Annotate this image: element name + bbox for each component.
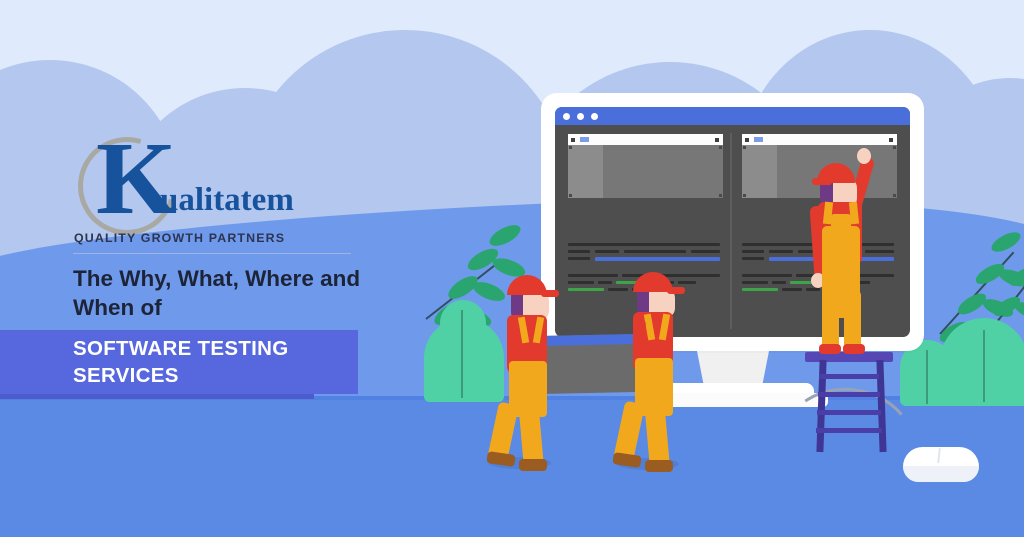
window-dot-maximize-icon[interactable] <box>591 113 598 120</box>
window-dot-minimize-icon[interactable] <box>577 113 584 120</box>
worker-carrying-front <box>613 262 703 477</box>
image-placeholder-shade <box>568 145 603 198</box>
cap-brim <box>812 178 832 185</box>
title-banner-text: SOFTWARE TESTING SERVICES <box>73 336 373 389</box>
cap-brim <box>541 290 559 297</box>
bush-left <box>440 300 486 402</box>
shoe <box>645 460 673 472</box>
headline-line-2: When of <box>73 293 373 322</box>
shoe <box>819 344 841 354</box>
worker-on-ladder <box>800 140 920 360</box>
toolbar-menu-icon <box>754 137 763 142</box>
image-placeholder-shade <box>742 145 777 198</box>
panel-toolbar[interactable] <box>568 134 723 145</box>
toolbar-marker-icon <box>745 138 749 142</box>
overall-bib <box>831 214 851 238</box>
toolbar-marker-icon <box>571 138 575 142</box>
divider <box>73 253 351 254</box>
cap-brim <box>667 287 685 294</box>
shoe <box>843 344 865 354</box>
banner-stage: K ualitatem QUALITY GROWTH PARTNERS The … <box>0 0 1024 537</box>
logo-wordmark: ualitatem <box>160 184 294 217</box>
worker-carrying-back <box>485 265 575 475</box>
window-dot-close-icon[interactable] <box>563 113 570 120</box>
browser-titlebar <box>555 107 910 125</box>
toolbar-menu-icon <box>580 137 589 142</box>
leg <box>822 290 839 352</box>
image-placeholder <box>568 145 723 198</box>
raised-hand <box>857 148 871 164</box>
leg <box>844 290 861 352</box>
bush-vein <box>983 330 985 402</box>
shoe <box>519 459 547 471</box>
toolbar-close-icon[interactable] <box>715 138 719 142</box>
headline: The Why, What, Where and When of <box>73 264 373 322</box>
bush-vein <box>926 350 928 404</box>
panel-divider <box>730 133 732 329</box>
headline-line-1: The Why, What, Where and <box>73 264 373 293</box>
brand-logo: K ualitatem <box>72 133 372 238</box>
brand-tagline: QUALITY GROWTH PARTNERS <box>74 231 285 245</box>
banner-line-1: SOFTWARE TESTING <box>73 336 373 363</box>
title-banner-shadow <box>0 394 314 399</box>
shoe <box>612 452 641 468</box>
banner-line-2: SERVICES <box>73 363 373 390</box>
bush-vein <box>461 310 463 398</box>
